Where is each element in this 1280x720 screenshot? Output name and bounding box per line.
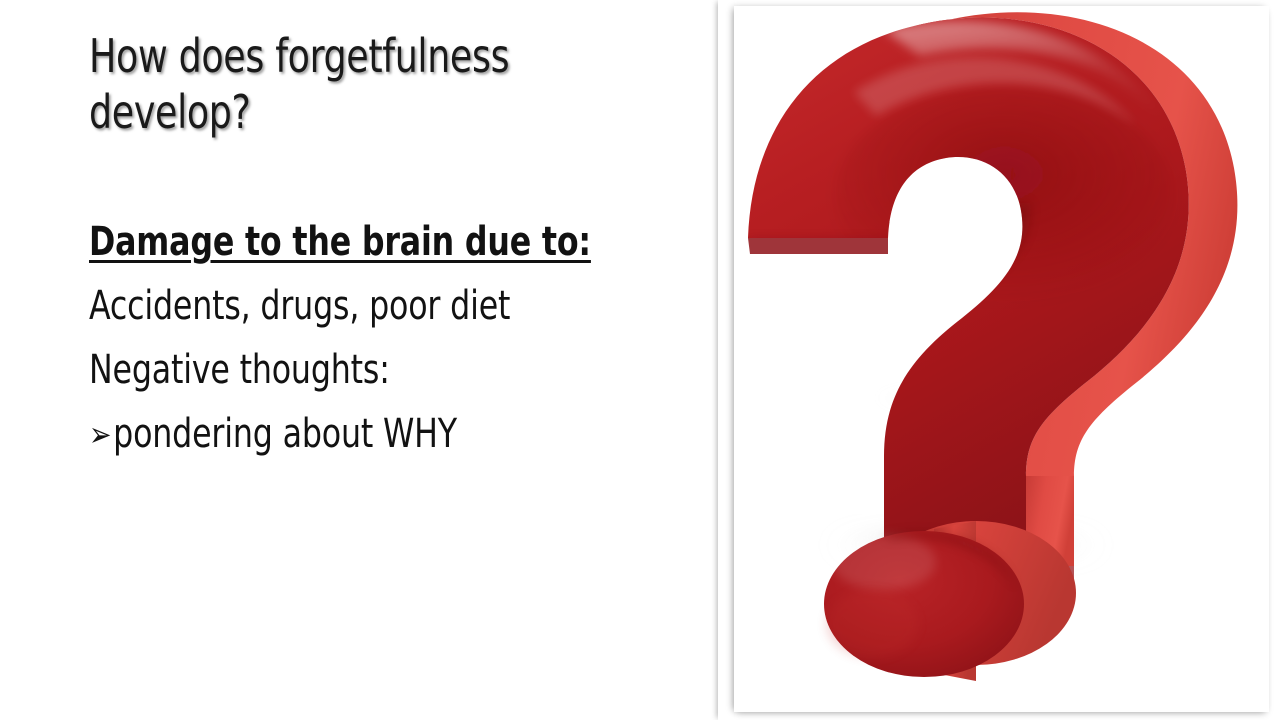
picture-frame [734,6,1269,712]
page-title: How does forgetfulness develop? [89,28,547,140]
body-line-text: Negative thoughts: [89,347,390,393]
picture-panel [718,0,1269,720]
panel-backplate [718,0,734,720]
body-line-pondering: ➢pondering about WHY [89,402,582,466]
body-line-text: Damage to the brain due to: [89,219,591,265]
body-line-negative-thoughts: Negative thoughts: [89,338,582,402]
body-line-causes: Accidents, drugs, poor diet [89,274,582,338]
red-3d-question-mark-image [734,6,1269,712]
body-line-text: pondering about WHY [113,411,457,457]
question-mark-dot [824,521,1080,681]
text-content-column: How does forgetfulness develop? Damage t… [89,0,689,720]
slide-canvas: How does forgetfulness develop? Damage t… [0,0,1280,720]
body-text-block: Damage to the brain due to: Accidents, d… [89,210,649,466]
arrowhead-bullet-icon: ➢ [89,418,111,452]
body-line-text: Accidents, drugs, poor diet [89,283,510,329]
body-line-heading: Damage to the brain due to: [89,210,582,274]
